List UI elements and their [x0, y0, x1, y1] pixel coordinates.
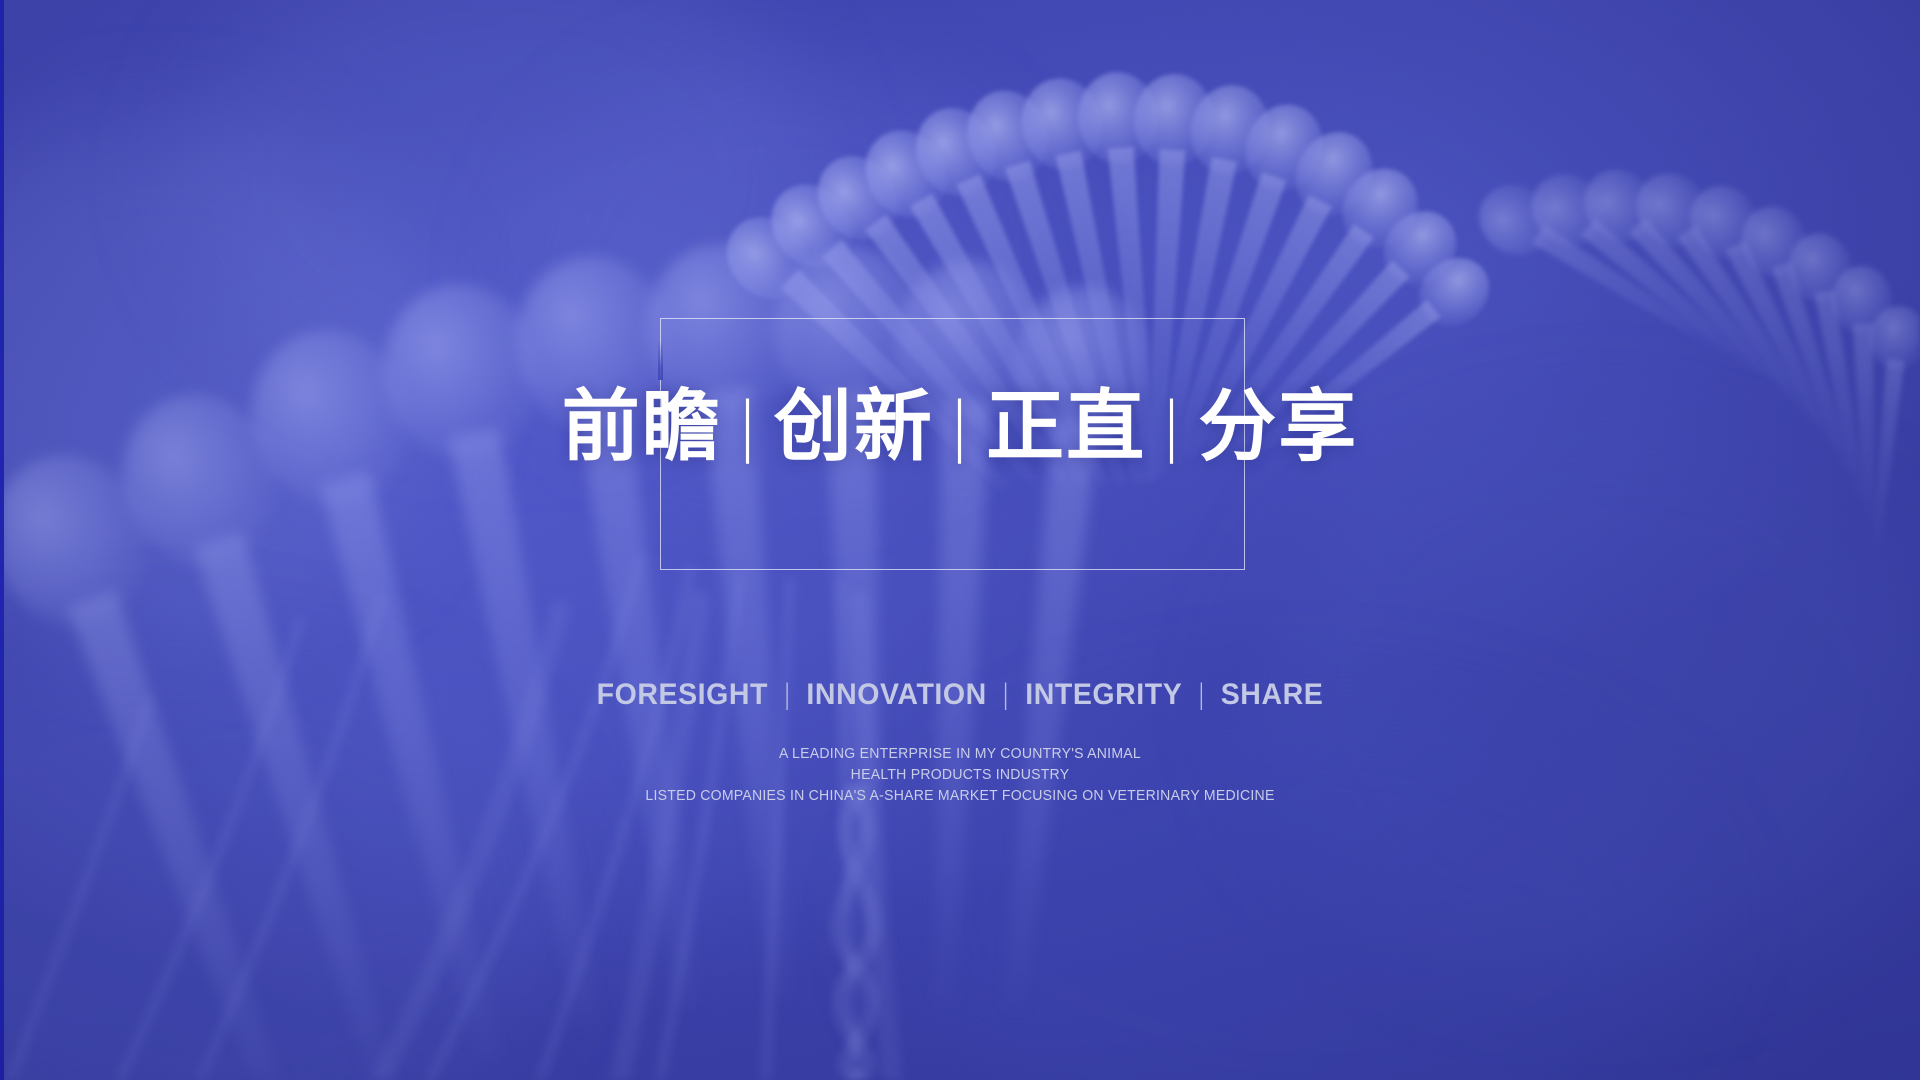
subheadline-values-english: FORESIGHT|INNOVATION|INTEGRITY|SHARE: [48, 678, 1872, 712]
headline-word-4: 分享: [1188, 386, 1368, 468]
subhead-word-3: INTEGRITY: [1020, 678, 1189, 712]
headline-separator: |: [951, 389, 969, 463]
blurb-line-3: LISTED COMPANIES IN CHINA'S A-SHARE MARK…: [29, 786, 1891, 807]
company-description-blurb: A LEADING ENTERPRISE IN MY COUNTRY'S ANI…: [29, 744, 1891, 807]
subhead-word-4: SHARE: [1215, 678, 1329, 712]
frame-edge-fade: [658, 340, 663, 380]
headline-values-chinese: 前瞻|创新|正直|分享: [0, 386, 1920, 468]
subhead-word-2: INNOVATION: [801, 678, 993, 712]
headline-word-1: 前瞻: [552, 386, 732, 468]
blurb-line-2: HEALTH PRODUCTS INDUSTRY: [29, 765, 1891, 786]
headline-separator: |: [739, 389, 757, 463]
headline-word-2: 创新: [764, 386, 944, 468]
slide-canvas: 前瞻|创新|正直|分享 FORESIGHT|INNOVATION|INTEGRI…: [0, 0, 1920, 1080]
subhead-separator: |: [1193, 678, 1209, 712]
headline-word-3: 正直: [976, 386, 1156, 468]
blurb-line-1: A LEADING ENTERPRISE IN MY COUNTRY'S ANI…: [29, 744, 1891, 765]
headline-separator: |: [1163, 389, 1181, 463]
subhead-separator: |: [779, 678, 795, 712]
subhead-word-1: FORESIGHT: [591, 678, 774, 712]
subhead-separator: |: [998, 678, 1014, 712]
bokeh-blob: [0, 120, 440, 640]
left-edge-accent-strip: [0, 0, 4, 1080]
